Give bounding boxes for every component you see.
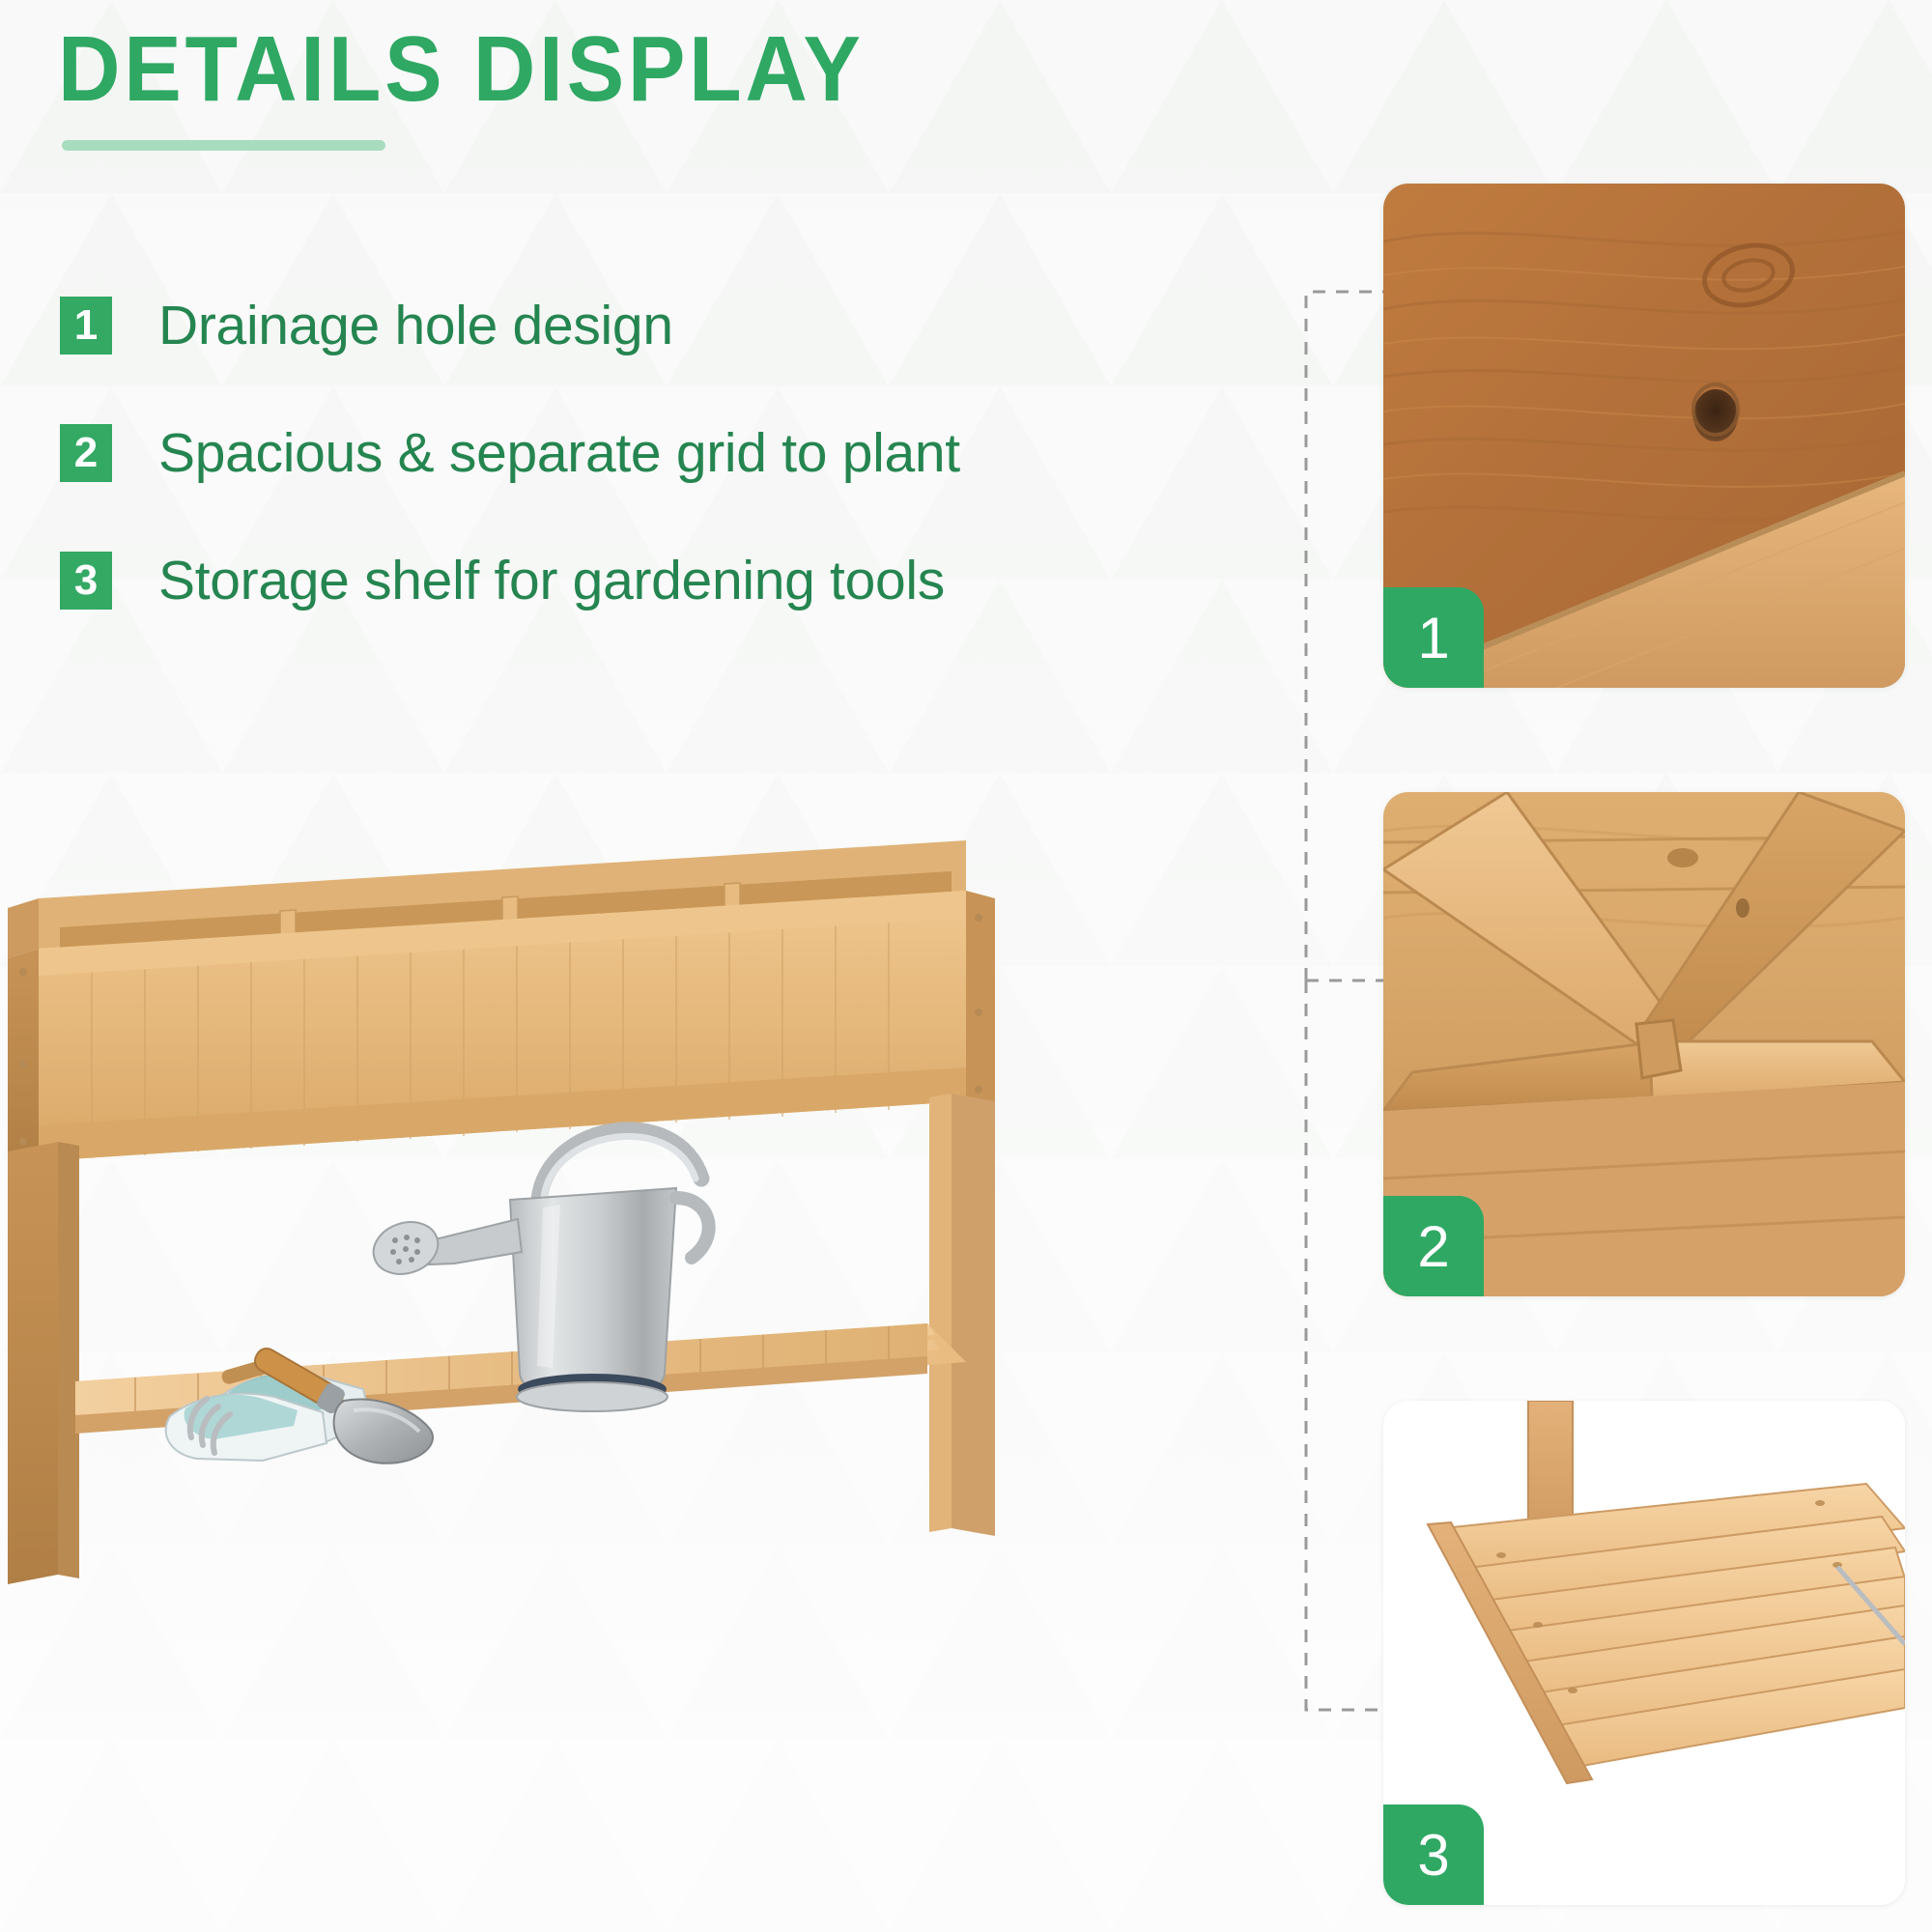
panel-number-badge-3: 3	[1383, 1804, 1484, 1905]
page-title: DETAILS DISPLAY	[58, 21, 865, 119]
detail-panel-3[interactable]: 3	[1383, 1401, 1905, 1905]
feature-label-1: Drainage hole design	[158, 294, 673, 357]
feature-number-badge-2: 2	[60, 424, 112, 482]
feature-list: 1 Drainage hole design 2 Spacious & sepa…	[60, 288, 960, 670]
detail-panel-2[interactable]: 2	[1383, 792, 1905, 1296]
feature-item-1: 1 Drainage hole design	[60, 288, 960, 363]
panel-number-badge-1: 1	[1383, 587, 1484, 688]
feature-number-badge-3: 3	[60, 552, 112, 610]
detail-panel-1[interactable]: 1	[1383, 184, 1905, 688]
feature-item-3: 3 Storage shelf for gardening tools	[60, 543, 960, 618]
panel-number-badge-2: 2	[1383, 1196, 1484, 1296]
feature-label-2: Spacious & separate grid to plant	[158, 421, 960, 485]
page-header: DETAILS DISPLAY	[58, 21, 924, 151]
product-photo-planter-stand	[0, 782, 1285, 1903]
title-underline	[62, 140, 385, 151]
feature-item-2: 2 Spacious & separate grid to plant	[60, 415, 960, 491]
feature-number-badge-1: 1	[60, 297, 112, 355]
feature-label-3: Storage shelf for gardening tools	[158, 549, 945, 612]
